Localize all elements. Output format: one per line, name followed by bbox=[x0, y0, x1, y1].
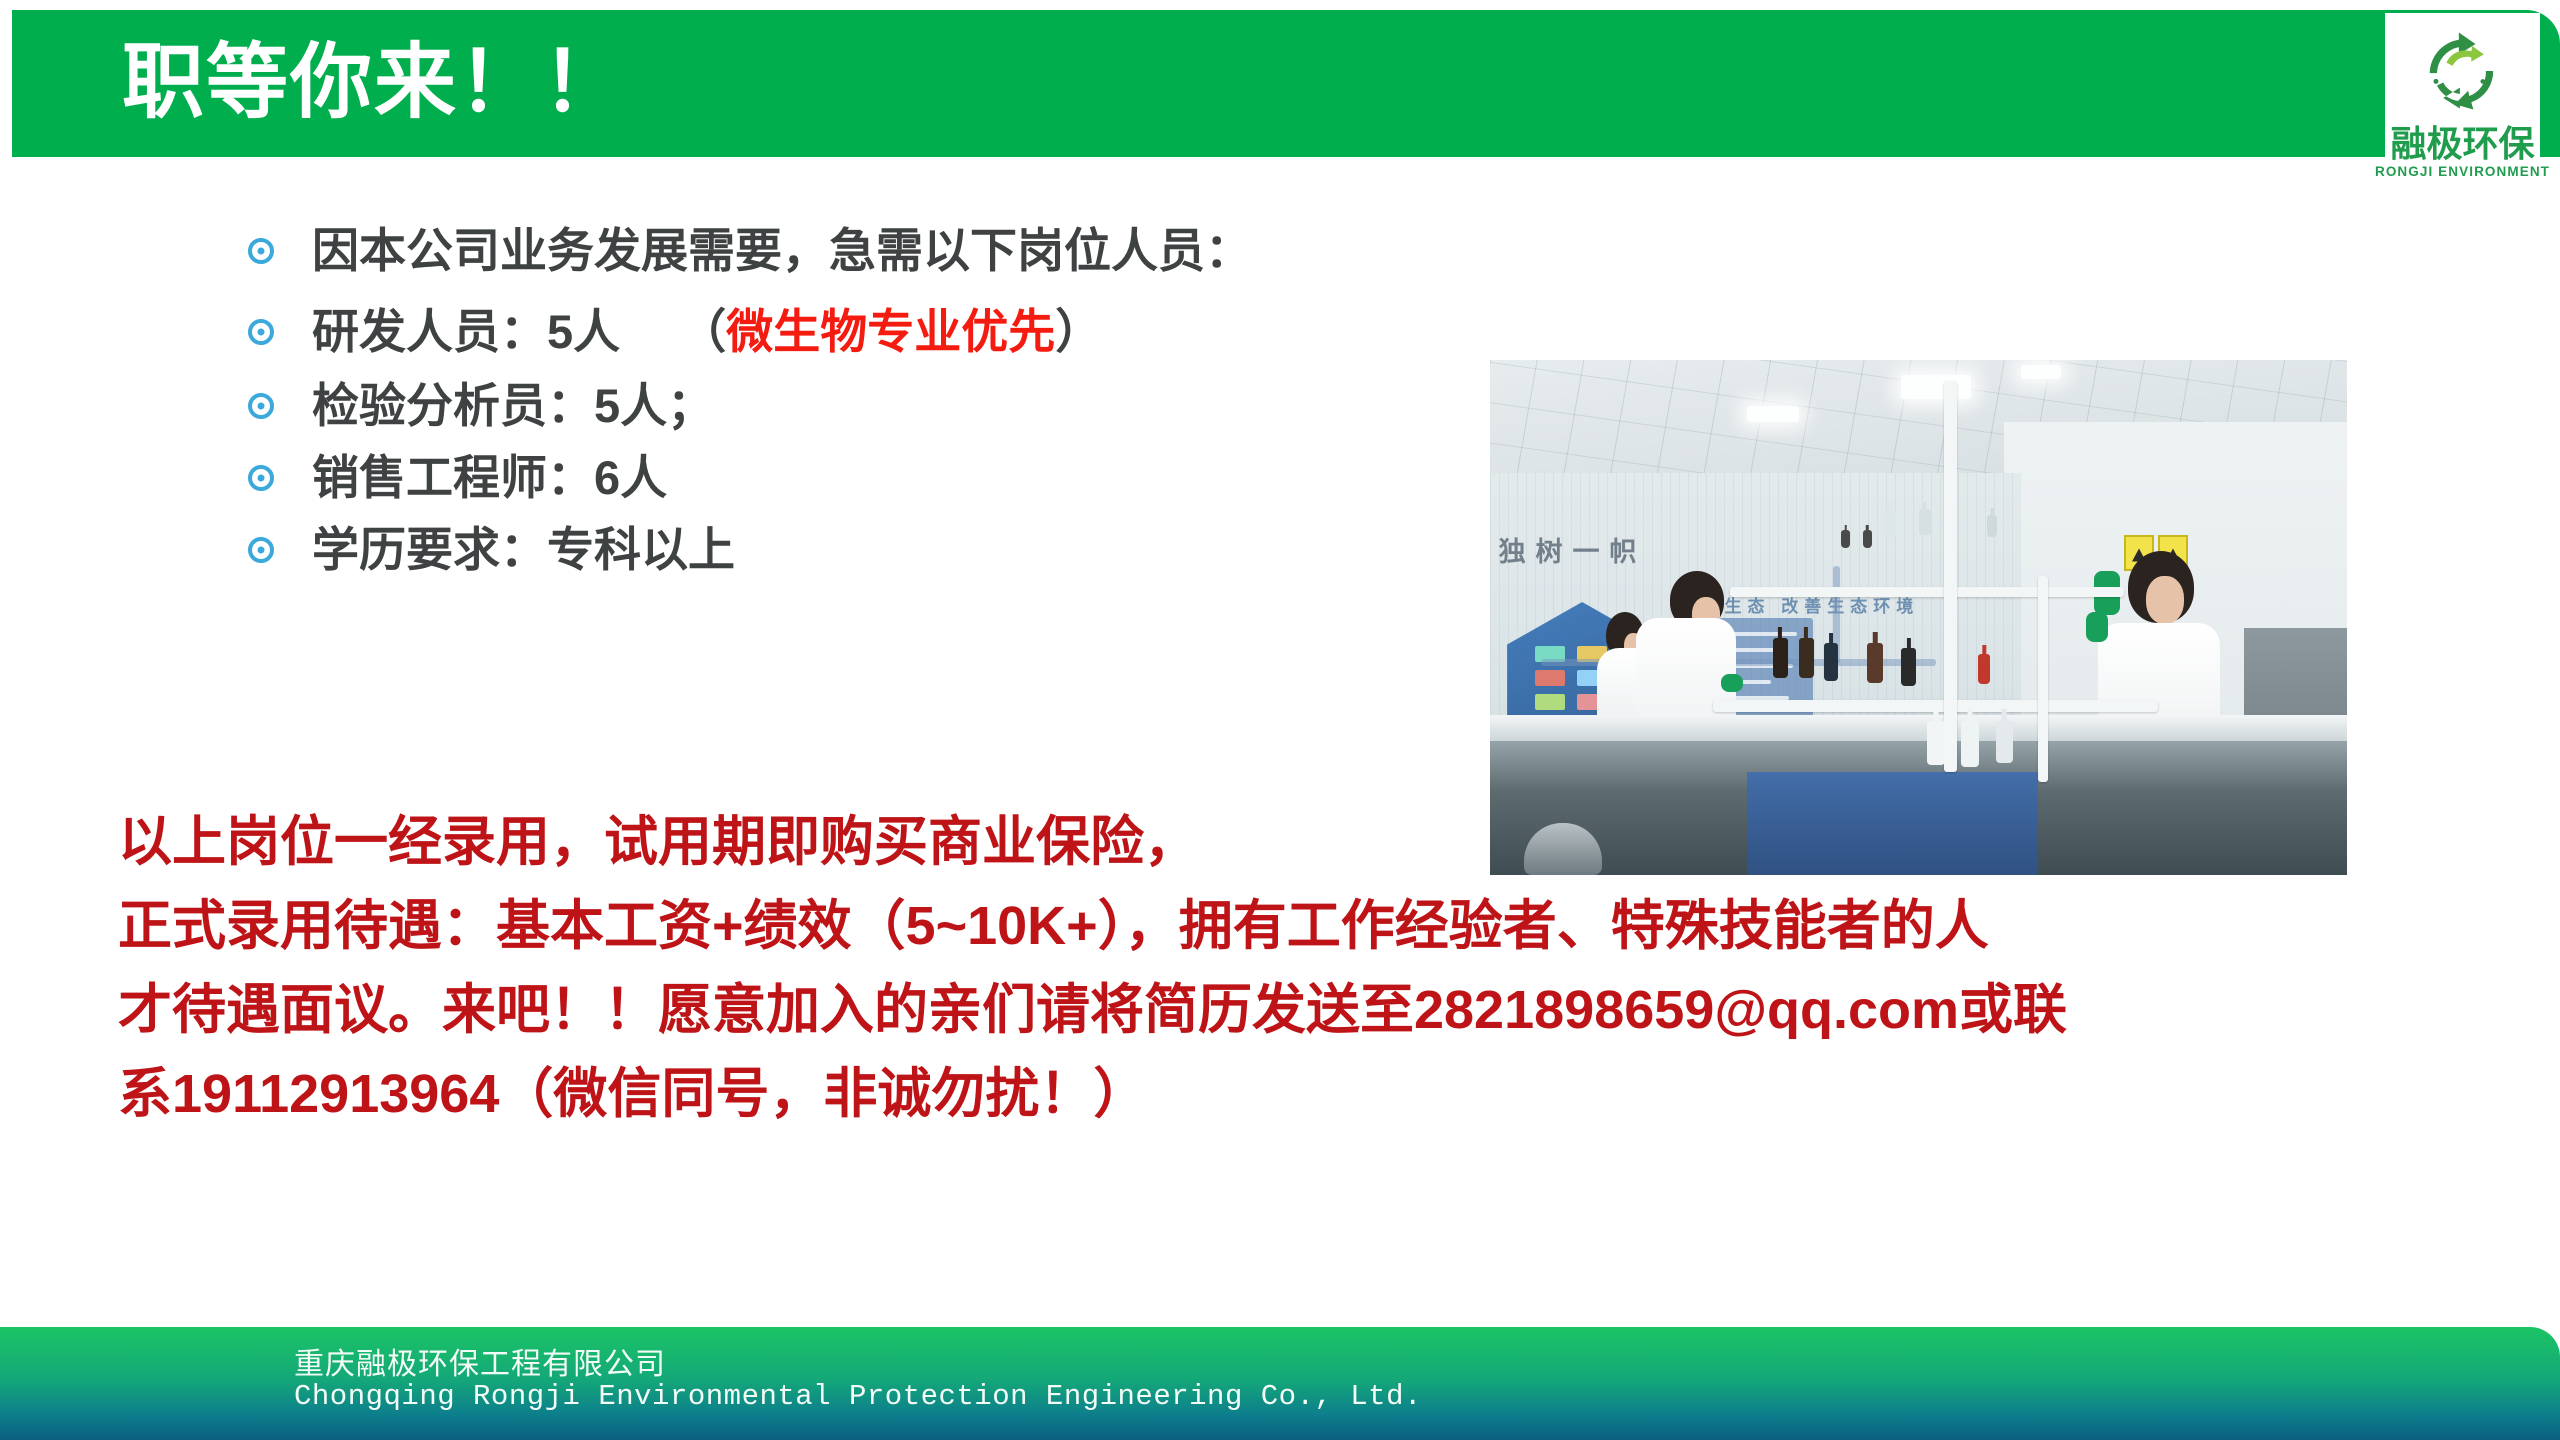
photo-reagent-bottle bbox=[1884, 509, 1896, 537]
photo-person-face bbox=[2146, 576, 2184, 624]
photo-reagent-bottle bbox=[1863, 530, 1872, 548]
photo-reagent-bottle bbox=[1901, 648, 1916, 686]
company-logo: 融极环保 RONGJI ENVIRONMENT bbox=[2385, 13, 2540, 209]
list-item-label: 因本公司业务发展需要，急需以下岗位人员： bbox=[312, 222, 1252, 280]
list-item: 因本公司业务发展需要，急需以下岗位人员： bbox=[248, 208, 1548, 294]
list-item: 检验分析员：5人； bbox=[248, 370, 1548, 442]
list-item-label: 研发人员：5人 （微生物专业优先） bbox=[312, 303, 1102, 361]
photo-reagent-bottle bbox=[1799, 638, 1814, 678]
photo-reagent-bottle bbox=[1773, 638, 1788, 678]
list-item-label: 销售工程师：6人 bbox=[312, 449, 667, 507]
circled-dot-bullet-icon bbox=[248, 393, 274, 419]
logo-name-cn: 融极环保 bbox=[2390, 125, 2534, 163]
photo-person-glove bbox=[1721, 674, 1743, 692]
photo-reagent-bottle bbox=[1824, 643, 1838, 681]
notice-line: 以上岗位一经录用，试用期即购买商业保险， bbox=[118, 800, 2418, 884]
notice-line: 才待遇面议。来吧！！愿意加入的亲们请将简历发送至2821898659@qq.co… bbox=[118, 968, 2418, 1052]
job-requirements-list: 因本公司业务发展需要，急需以下岗位人员： 研发人员：5人 （微生物专业优先） 检… bbox=[248, 208, 1548, 586]
photo-reagent-bottle bbox=[1841, 530, 1850, 548]
paren-open: （ bbox=[679, 305, 726, 358]
header-banner: 职等你来！！ bbox=[12, 10, 2560, 157]
photo-reagent-bottle bbox=[1978, 654, 1990, 684]
photo-shelf-post bbox=[2038, 576, 2048, 782]
photo-reagent-bottle bbox=[1987, 515, 1997, 537]
photo-shelf-rail bbox=[1730, 587, 2124, 597]
footer-company-en: Chongqing Rongji Environmental Protectio… bbox=[294, 1380, 1422, 1413]
photo-shelf-post bbox=[1944, 381, 1957, 772]
photo-bench-top bbox=[1490, 715, 2347, 741]
photo-reagent-bottle bbox=[1919, 509, 1931, 535]
recruitment-notice: 以上岗位一经录用，试用期即购买商业保险， 正式录用待遇：基本工资+绩效（5~10… bbox=[118, 800, 2418, 1136]
photo-ceiling-light bbox=[2021, 365, 2061, 379]
photo-reagent-bottle bbox=[1961, 721, 1979, 767]
logo-name-en: RONGJI ENVIRONMENT bbox=[2375, 164, 2550, 180]
photo-reagent-bottle bbox=[1996, 721, 2013, 763]
recycling-circle-icon bbox=[2411, 19, 2515, 123]
notice-line: 正式录用待遇：基本工资+绩效（5~10K+），拥有工作经验者、特殊技能者的人 bbox=[118, 884, 2418, 968]
rnd-position-label: 研发人员：5人 bbox=[312, 305, 620, 358]
list-item-label: 学历要求：专科以上 bbox=[312, 521, 735, 579]
photo-reagent-bottle bbox=[1927, 721, 1945, 765]
photo-ceiling-light bbox=[1901, 375, 1971, 399]
rnd-preference-highlight: 微生物专业优先 bbox=[726, 305, 1055, 358]
footer-bar: 重庆融极环保工程有限公司 Chongqing Rongji Environmen… bbox=[0, 1327, 2560, 1440]
photo-scene: 独树一帜 守住生态 改善生态环境 bbox=[1490, 360, 2347, 875]
photo-wall-text: 独树一帜 bbox=[1499, 530, 1647, 569]
photo-person-glove bbox=[2086, 612, 2108, 642]
photo-reagent-bottle bbox=[1867, 643, 1883, 683]
paren-close: ） bbox=[1055, 305, 1102, 358]
page-title: 职等你来！！ bbox=[122, 22, 626, 144]
circled-dot-bullet-icon bbox=[248, 465, 274, 491]
list-item: 研发人员：5人 （微生物专业优先） bbox=[248, 294, 1548, 370]
list-item-label: 检验分析员：5人； bbox=[312, 377, 714, 435]
circled-dot-bullet-icon bbox=[248, 238, 274, 264]
list-item: 学历要求：专科以上 bbox=[248, 514, 1548, 586]
circled-dot-bullet-icon bbox=[248, 319, 274, 345]
notice-line: 系19112913964（微信同号，非诚勿扰！） bbox=[118, 1052, 2418, 1136]
photo-ceiling-light bbox=[1747, 406, 1799, 422]
laboratory-staff-photo: 独树一帜 守住生态 改善生态环境 bbox=[1490, 360, 2347, 875]
list-item: 销售工程师：6人 bbox=[248, 442, 1548, 514]
circled-dot-bullet-icon bbox=[248, 537, 274, 563]
footer-company-cn: 重庆融极环保工程有限公司 bbox=[294, 1339, 666, 1383]
